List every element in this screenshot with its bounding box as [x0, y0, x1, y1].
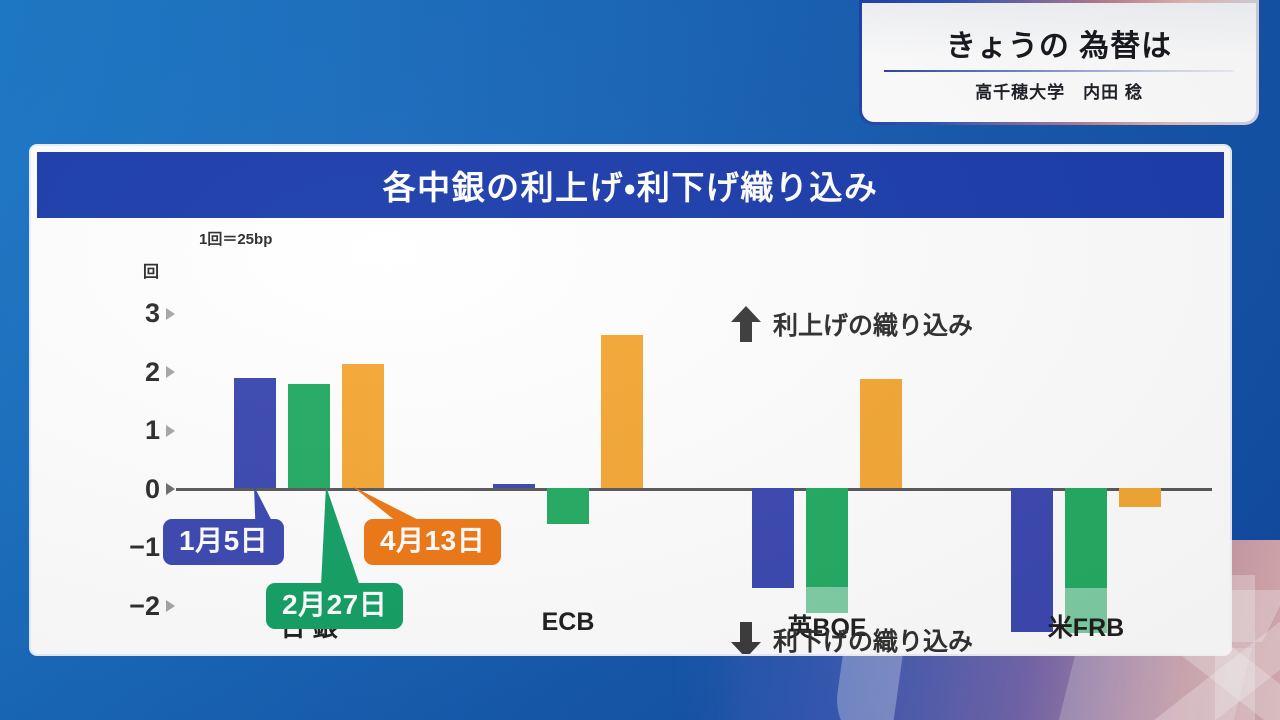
y-tick-marker-0 [166, 483, 175, 495]
program-title-keyword: 為替 [1079, 30, 1141, 63]
legend-rate-hike: 利上げの織り込み [731, 306, 973, 342]
callout-apr13: 4月13日 [364, 519, 501, 565]
x-label-frb: 米FRB [986, 608, 1186, 644]
y-tick-marker-2 [166, 366, 175, 378]
callout-apr13-label: 4月13日 [380, 525, 485, 556]
y-tick-label-0: 0 [145, 476, 160, 503]
legend-rate-cut-label: 利下げの織り込み [773, 622, 973, 654]
y-tick-label-2: 2 [145, 359, 160, 386]
y-axis-unit-label: 回 [117, 258, 159, 282]
x-label-ecb: ECB [468, 608, 668, 637]
bar-boe-jan05 [752, 488, 794, 588]
bar-boj-apr13 [342, 364, 384, 488]
callout-jan05-label: 1月5日 [179, 525, 268, 556]
chart-header-bar: 各中銀の利上げ・利下げ織り込み [37, 152, 1224, 218]
bar-boj-jan05 [234, 378, 276, 488]
y-tick-label-1: 1 [145, 417, 160, 444]
chart-card: 各中銀の利上げ・利下げ織り込み 1回＝25bp 3 回 2 1 0 [31, 146, 1230, 654]
arrow-up-icon [731, 306, 761, 342]
y-tick-label-minus3: −3 [129, 651, 160, 654]
arrow-down-icon [731, 622, 761, 654]
legend-rate-cut: 利下げの織り込み [731, 622, 973, 654]
program-title-plate-inner: きょうの 為替は 高千穂大学 内田 稔 [862, 3, 1256, 122]
y-tick-3: 3 [117, 303, 175, 325]
program-commentator: 高千穂大学 内田 稔 [975, 78, 1143, 103]
callout-feb27-label: 2月27日 [282, 589, 387, 620]
y-tick-marker-3 [166, 308, 175, 320]
bar-boe-apr13 [860, 379, 902, 488]
broadcast-frame: きょうの 為替は 高千穂大学 内田 稔 各中銀の利上げ・利下げ織り込み 1回＝2… [0, 0, 1280, 720]
y-tick-label-minus1: −1 [129, 534, 160, 561]
program-title: きょうの 為替は [946, 30, 1172, 63]
bar-ecb-apr13 [601, 335, 643, 488]
y-tick-1: 1 [117, 420, 175, 442]
program-title-divider [884, 70, 1234, 72]
y-tick-marker-minus2 [166, 600, 175, 612]
legend-rate-hike-label: 利上げの織り込み [773, 306, 973, 342]
y-tick-minus3: −3 [117, 654, 175, 655]
bar-ecb-jan05 [493, 484, 535, 488]
callout-jan05: 1月5日 [163, 519, 284, 565]
bar-boj-feb27 [288, 384, 330, 488]
unit-note: 1回＝25bp [199, 228, 272, 249]
y-tick-label-minus2: −2 [129, 593, 160, 620]
y-tick-minus2: −2 [117, 595, 175, 617]
watermark-glyph-a-body [1053, 648, 1252, 720]
callout-feb27: 2月27日 [266, 583, 403, 629]
program-title-plate: きょうの 為替は 高千穂大学 内田 稔 [859, 0, 1259, 125]
y-tick-marker-1 [166, 425, 175, 437]
bar-ecb-feb27 [547, 488, 589, 524]
y-tick-2: 2 [117, 361, 175, 383]
bar-boe-feb27 [806, 488, 848, 613]
chart-plot-area: 1回＝25bp 3 回 2 1 0 −1 [31, 218, 1230, 654]
y-tick-0: 0 [117, 478, 175, 500]
program-title-part-2: は [1141, 30, 1172, 63]
chart-title: 各中銀の利上げ・利下げ織り込み [383, 161, 879, 209]
y-tick-label-3: 3 [145, 300, 160, 327]
program-title-part-1: きょうの [946, 30, 1079, 63]
bar-frb-apr13 [1119, 488, 1161, 507]
